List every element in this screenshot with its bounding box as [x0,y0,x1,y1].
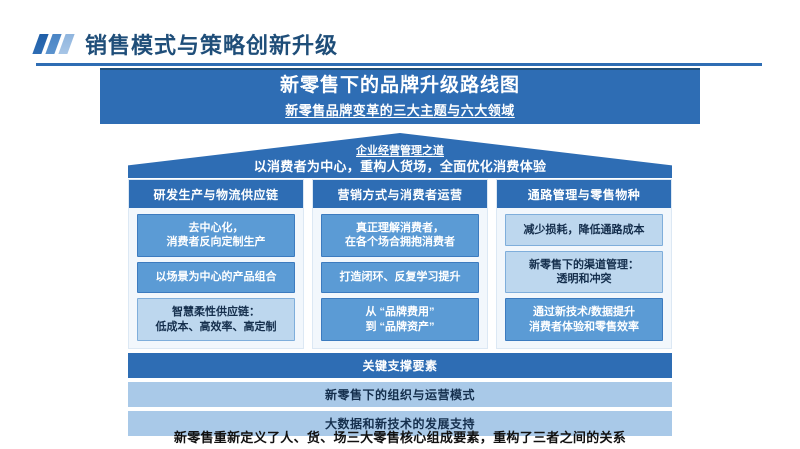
pillar-1-card-1[interactable]: 去中心化， 消费者反向定制生产 [137,214,295,257]
pillar-2-card-1[interactable]: 真正理解消费者， 在各个场合拥抱消费者 [321,214,479,257]
pillar-header-2: 营销方式与消费者运营 [313,180,487,208]
pillar-body-2: 真正理解消费者， 在各个场合拥抱消费者 打造闭环、反复学习提升 从 “品牌费用”… [313,208,487,348]
pillar-1-card-2[interactable]: 以场景为中心的产品组合 [137,262,295,294]
pillar-column-2: 营销方式与消费者运营 真正理解消费者， 在各个场合拥抱消费者 打造闭环、反复学习… [312,179,488,349]
slide-title-row: 销售模式与策略创新升级 [36,28,338,60]
roof-statement: 以消费者为中心，重构人货场，全面优化消费体验 [128,159,672,175]
roof-text-group: 企业经营管理之道 以消费者为中心，重构人货场，全面优化消费体验 [128,145,672,175]
pillar-columns: 研发生产与物流供应链 去中心化， 消费者反向定制生产 以场景为中心的产品组合 智… [128,179,672,349]
support-bar-organization[interactable]: 新零售下的组织与运营模式 [128,382,672,407]
header-banner: 新零售下的品牌升级路线图 新零售品牌变革的三大主题与六大领域 [100,68,700,124]
footer-note: 新零售重新定义了人、货、场三大零售核心组成要素，重构了三者之间的关系 [0,427,800,446]
roof-chevron: 企业经营管理之道 以消费者为中心，重构人货场，全面优化消费体验 [128,133,672,178]
pillar-body-3: 减少损耗，降低通路成本 新零售下的渠道管理： 透明和冲突 通过新技术/数据提升 … [497,208,671,348]
page-title: 销售模式与策略创新升级 [85,28,338,60]
pillar-body-1: 去中心化， 消费者反向定制生产 以场景为中心的产品组合 智慧柔性供应链： 低成本… [129,208,303,348]
pillar-3-card-3[interactable]: 通过新技术/数据提升 消费者体验和零售效率 [505,298,663,341]
pillar-column-1: 研发生产与物流供应链 去中心化， 消费者反向定制生产 以场景为中心的产品组合 智… [128,179,304,349]
pillar-3-card-1[interactable]: 减少损耗，降低通路成本 [505,214,663,246]
pillar-3-card-2[interactable]: 新零售下的渠道管理： 透明和冲突 [505,251,663,294]
support-bars: 关键支撑要素 新零售下的组织与运营模式 大数据和新技术的发展支持 [128,353,672,436]
title-underline-rule [36,63,762,66]
slash-bar-3 [58,34,74,54]
header-subtitle: 新零售品牌变革的三大主题与六大领域 [285,100,515,119]
triple-slash-icon [36,34,71,54]
pillar-column-3: 通路管理与零售物种 减少损耗，降低通路成本 新零售下的渠道管理： 透明和冲突 通… [496,179,672,349]
header-title: 新零售下的品牌升级路线图 [280,75,520,97]
roof-heading: 企业经营管理之道 [128,145,672,158]
pillar-header-3: 通路管理与零售物种 [497,180,671,208]
pillar-header-1: 研发生产与物流供应链 [129,180,303,208]
pillar-1-card-3[interactable]: 智慧柔性供应链： 低成本、高效率、高定制 [137,298,295,341]
pillar-2-card-2[interactable]: 打造闭环、反复学习提升 [321,262,479,294]
support-bar-key-elements[interactable]: 关键支撑要素 [128,353,672,378]
slide-canvas: 销售模式与策略创新升级 新零售下的品牌升级路线图 新零售品牌变革的三大主题与六大… [0,0,800,449]
pillar-2-card-3[interactable]: 从 “品牌费用” 到 “品牌资产” [321,298,479,341]
